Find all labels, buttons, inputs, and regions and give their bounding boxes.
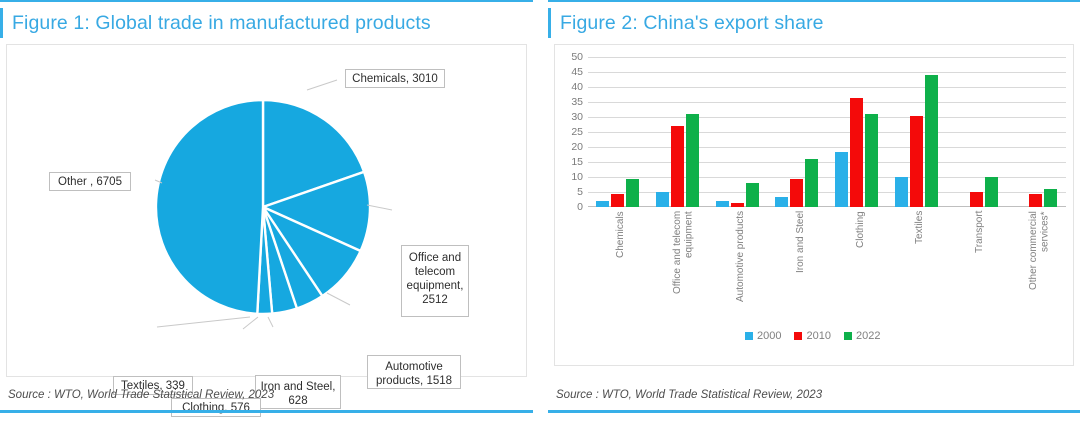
bar-automotive-2000 xyxy=(716,201,729,207)
bar-chart-y-axis: 50 45 40 35 30 25 20 15 10 5 0 xyxy=(557,57,583,207)
figure2-chart-area: 50 45 40 35 30 25 20 15 10 5 0 xyxy=(554,44,1074,366)
bar-group-transport xyxy=(947,57,1007,207)
bar-chemicals-2000 xyxy=(596,201,609,207)
pie-chart: Chemicals, 3010 Office and telecom equip… xyxy=(7,45,526,376)
pie-label-automotive: Automotive products, 1518 xyxy=(367,355,461,389)
bar-textiles-2022 xyxy=(925,75,938,207)
y-tick-15: 15 xyxy=(557,157,583,167)
bar-textiles-2010 xyxy=(910,116,923,208)
bar-automotive-2022 xyxy=(746,183,759,207)
legend-swatch-2000 xyxy=(745,332,753,340)
pie-label-other: Other , 6705 xyxy=(49,172,131,191)
figure2-title-group: Figure 2: China's export share xyxy=(548,8,824,38)
figure1-chart-area: Chemicals, 3010 Office and telecom equip… xyxy=(6,44,527,377)
y-tick-5: 5 xyxy=(557,187,583,197)
legend-item-2000: 2000 xyxy=(745,330,781,342)
figure1-top-rule xyxy=(0,0,533,2)
bar-transport-2010 xyxy=(970,192,983,207)
figure1-title: Figure 1: Global trade in manufactured p… xyxy=(12,12,431,35)
figure1-bottom-rule xyxy=(0,410,533,413)
bar-clothing-2010 xyxy=(850,98,863,208)
y-tick-0: 0 xyxy=(557,202,583,212)
pie-label-chemicals: Chemicals, 3010 xyxy=(345,69,445,88)
figure1-panel: Figure 1: Global trade in manufactured p… xyxy=(0,0,535,421)
figure1-source: Source : WTO, World Trade Statistical Re… xyxy=(8,389,274,401)
y-tick-35: 35 xyxy=(557,97,583,107)
y-tick-45: 45 xyxy=(557,67,583,77)
bar-iron-and-steel-2022 xyxy=(805,159,818,207)
x-label-automotive: Automotive products xyxy=(735,211,747,321)
x-label-textiles: Textiles xyxy=(914,211,926,271)
pie-label-office-telecom: Office and telecom equipment, 2512 xyxy=(401,245,469,317)
x-label-office-telecom: Office and telecom equipment xyxy=(672,211,698,321)
x-label-other-commercial-services: Other commercial services* xyxy=(1028,211,1054,321)
pie-slice-other xyxy=(156,100,263,314)
bar-group-other-commercial-services xyxy=(1006,57,1066,207)
bar-group-office-telecom xyxy=(648,57,708,207)
x-label-chemicals: Chemicals xyxy=(615,211,627,271)
y-tick-10: 10 xyxy=(557,172,583,182)
bar-office-telecom-2000 xyxy=(656,192,669,207)
figure2-bottom-rule xyxy=(548,410,1080,413)
figure1-title-accent-bar xyxy=(0,8,3,38)
bar-iron-and-steel-2010 xyxy=(790,179,803,208)
bar-group-textiles xyxy=(887,57,947,207)
bar-group-automotive xyxy=(708,57,768,207)
bar-chemicals-2010 xyxy=(611,194,624,208)
page-root: Figure 1: Global trade in manufactured p… xyxy=(0,0,1080,421)
bar-other-commercial-services-2022 xyxy=(1044,189,1057,207)
bar-office-telecom-2010 xyxy=(671,126,684,207)
bar-group-iron-and-steel xyxy=(767,57,827,207)
figure2-title-accent-bar xyxy=(548,8,551,38)
x-label-iron-and-steel: Iron and Steel xyxy=(795,211,807,291)
bar-textiles-2000 xyxy=(895,177,908,207)
legend-label-2010: 2010 xyxy=(806,330,830,342)
bar-chart: 50 45 40 35 30 25 20 15 10 5 0 xyxy=(555,45,1073,365)
figure1-title-group: Figure 1: Global trade in manufactured p… xyxy=(0,8,431,38)
bar-office-telecom-2022 xyxy=(686,114,699,207)
bar-automotive-2010 xyxy=(731,203,744,208)
legend-item-2010: 2010 xyxy=(794,330,830,342)
y-tick-25: 25 xyxy=(557,127,583,137)
y-tick-50: 50 xyxy=(557,52,583,62)
legend-swatch-2010 xyxy=(794,332,802,340)
figure2-source: Source : WTO, World Trade Statistical Re… xyxy=(556,389,822,401)
legend-label-2000: 2000 xyxy=(757,330,781,342)
y-tick-40: 40 xyxy=(557,82,583,92)
legend-label-2022: 2022 xyxy=(856,330,880,342)
y-tick-30: 30 xyxy=(557,112,583,122)
x-label-clothing: Clothing xyxy=(855,211,867,271)
bar-clothing-2000 xyxy=(835,152,848,208)
legend-swatch-2022 xyxy=(844,332,852,340)
bar-group-chemicals xyxy=(588,57,648,207)
bar-chemicals-2022 xyxy=(626,179,639,208)
figure2-title: Figure 2: China's export share xyxy=(560,12,824,35)
bar-other-commercial-services-2010 xyxy=(1029,194,1042,208)
bar-iron-and-steel-2000 xyxy=(775,197,788,208)
x-label-transport: Transport xyxy=(974,211,986,271)
bar-chart-legend: 2000 2010 2022 xyxy=(745,330,880,342)
y-tick-20: 20 xyxy=(557,142,583,152)
legend-item-2022: 2022 xyxy=(844,330,880,342)
figure2-panel: Figure 2: China's export share 50 45 40 … xyxy=(548,0,1080,421)
bar-transport-2022 xyxy=(985,177,998,207)
bar-group-clothing xyxy=(827,57,887,207)
pie-chart-svg xyxy=(7,45,526,376)
bar-chart-plot xyxy=(588,57,1066,207)
bar-clothing-2022 xyxy=(865,114,878,207)
figure2-top-rule xyxy=(548,0,1080,2)
